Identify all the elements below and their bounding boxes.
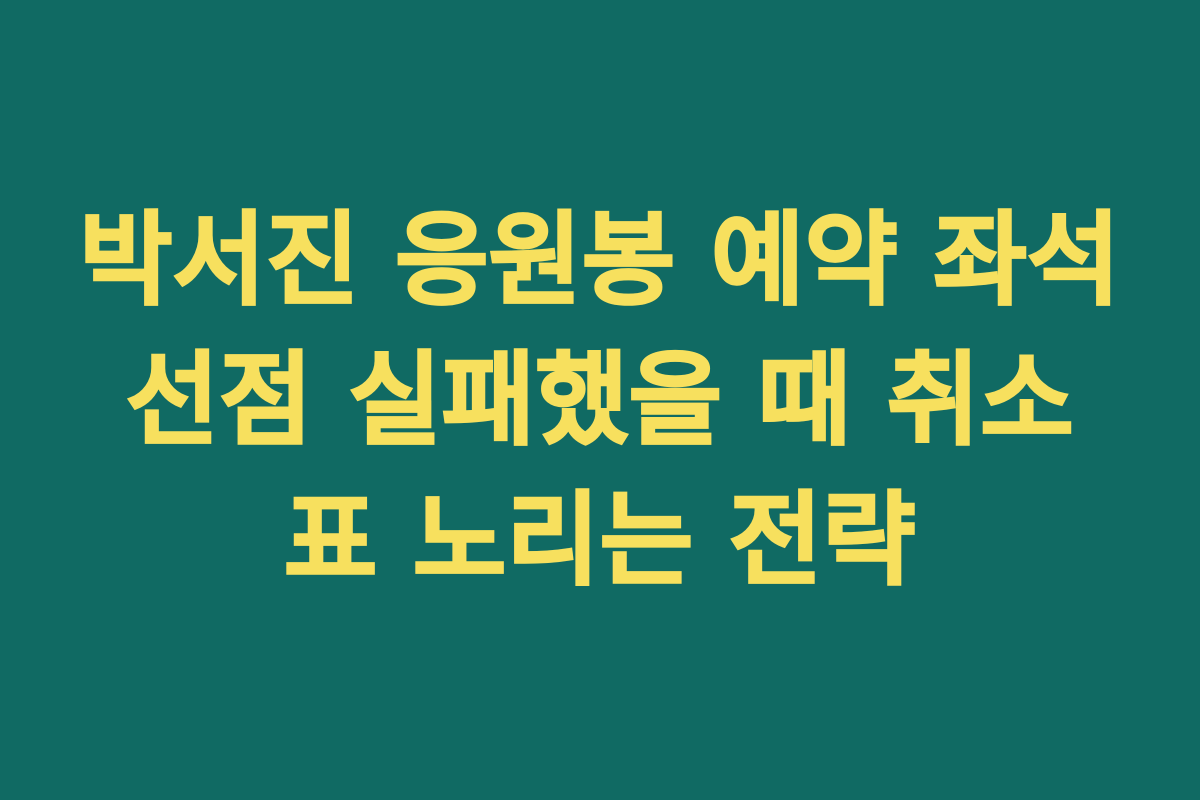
headline: 박서진 응원봉 예약 좌석 선점 실패했을 때 취소 표 노리는 전략: [0, 190, 1200, 610]
headline-line-2: 선점 실패했을 때 취소: [0, 330, 1200, 470]
headline-line-3: 표 노리는 전략: [0, 470, 1200, 610]
banner-canvas: 박서진 응원봉 예약 좌석 선점 실패했을 때 취소 표 노리는 전략: [0, 0, 1200, 800]
headline-line-1: 박서진 응원봉 예약 좌석: [0, 190, 1200, 330]
